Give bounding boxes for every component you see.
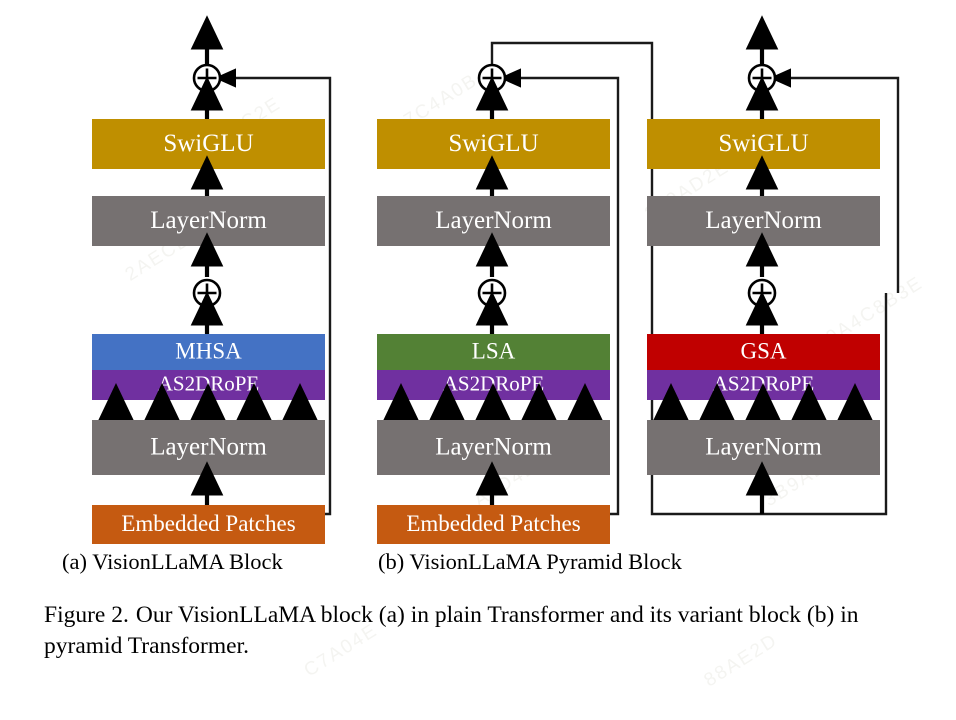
figure-2-root: 704A8C2E 2AECD90 7C4A0B 399AD2E 0A4C8B3E… (0, 0, 956, 720)
block-layernorm-attn-label: LayerNorm (435, 434, 552, 461)
residual-add-mlp (194, 65, 220, 91)
residual-add-attn (749, 280, 775, 306)
block-swiglu-label: SwiGLU (448, 130, 538, 157)
figure-caption-body: Our VisionLLaMA block (a) in plain Trans… (44, 602, 858, 659)
skip-connection-attn (207, 293, 330, 514)
token-arrows (671, 403, 855, 420)
figure-caption-lead: Figure 2. (44, 602, 129, 628)
block-swiglu-label: SwiGLU (718, 130, 808, 157)
block-lsa-label: LSA (472, 338, 516, 363)
block-as2drope-label: AS2DRoPE (713, 371, 815, 395)
block-embedded-patches-label: Embedded Patches (406, 511, 580, 536)
panel-caption-a: (a) VisionLLaMA Block (62, 549, 283, 575)
skip-connection-mlp (509, 78, 618, 293)
skip-connection-attn (762, 293, 886, 514)
token-arrows (116, 403, 300, 420)
panel-caption-b: (b) VisionLLaMA Pyramid Block (378, 549, 682, 575)
block-swiglu-label: SwiGLU (163, 130, 253, 157)
block-as2drope-label: AS2DRoPE (158, 371, 260, 395)
block-gsa-label: GSA (740, 338, 786, 363)
block-layernorm-mlp-label: LayerNorm (435, 207, 552, 234)
residual-add-mlp (479, 65, 505, 91)
residual-add-attn (194, 280, 220, 306)
residual-add-mlp (749, 65, 775, 91)
figure-caption: Figure 2.Our VisionLLaMA block (a) in pl… (44, 600, 924, 662)
column-plain-block: SwiGLU LayerNorm MHSA AS2DRoPE (92, 32, 330, 544)
block-layernorm-attn-label: LayerNorm (150, 434, 267, 461)
block-layernorm-mlp-label: LayerNorm (705, 207, 822, 234)
skip-connection-attn (492, 293, 618, 514)
skip-connection-mlp (224, 78, 330, 293)
skip-connection-mlp (779, 78, 898, 293)
token-arrows (401, 403, 585, 420)
column-pyramid-global-block: SwiGLU LayerNorm GSA AS2DRoPE (647, 32, 898, 514)
residual-add-attn (479, 280, 505, 306)
block-embedded-patches-label: Embedded Patches (121, 511, 295, 536)
block-layernorm-attn-label: LayerNorm (705, 434, 822, 461)
block-mhsa-label: MHSA (175, 338, 242, 363)
block-as2drope-label: AS2DRoPE (443, 371, 545, 395)
block-layernorm-mlp-label: LayerNorm (150, 207, 267, 234)
